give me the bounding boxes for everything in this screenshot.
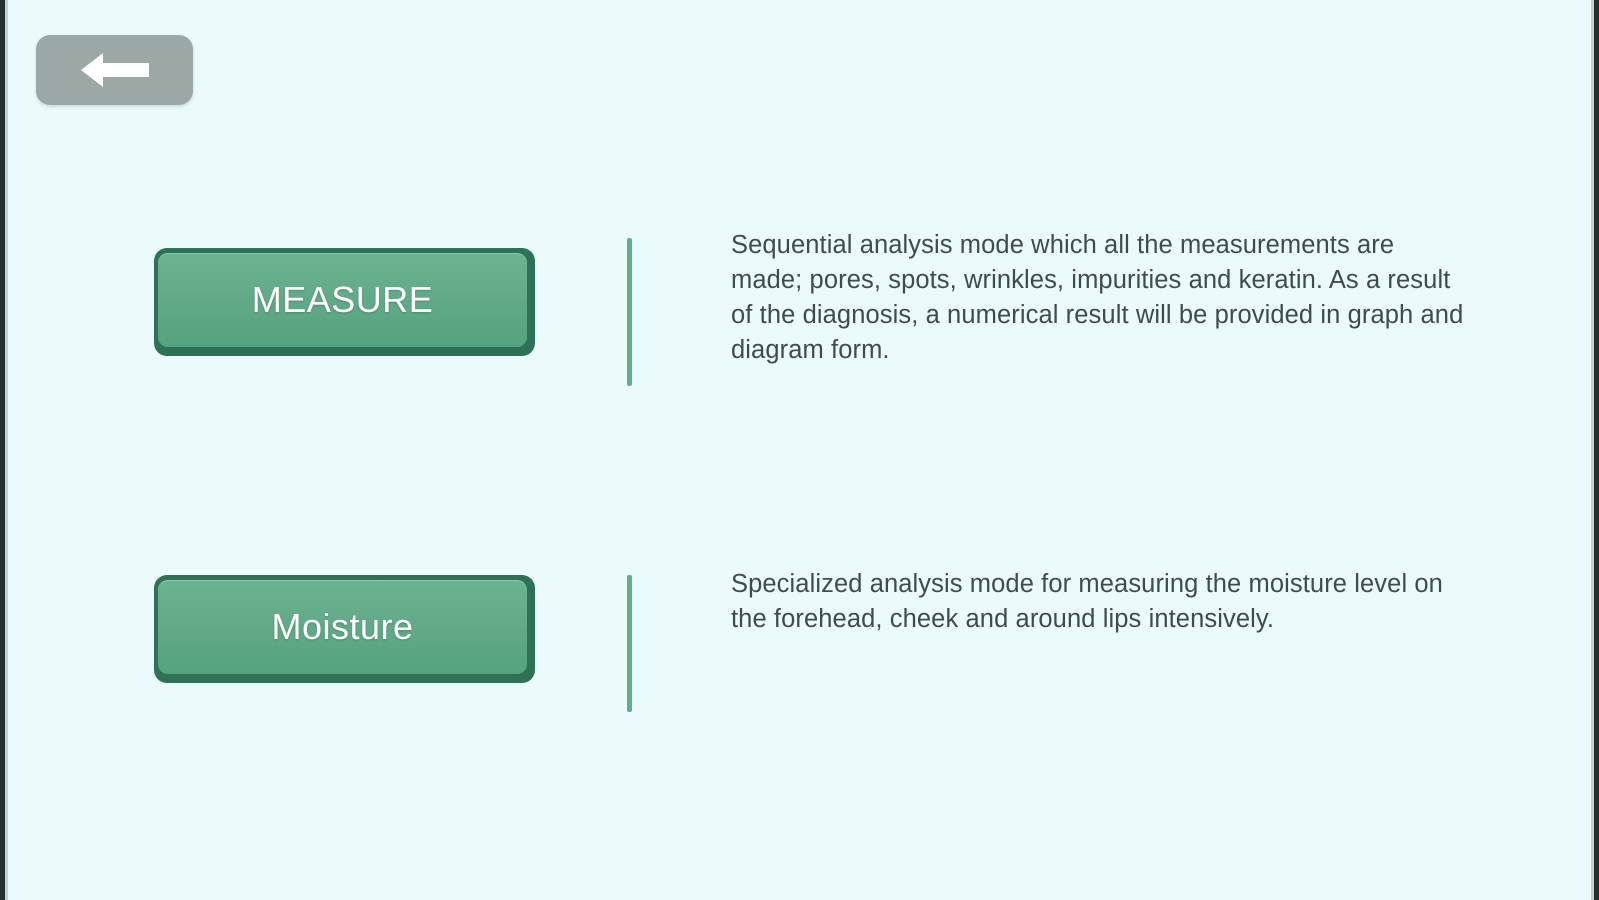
moisture-description: Specialized analysis mode for measuring … [731, 567, 1471, 637]
arrow-left-icon [79, 50, 151, 90]
measure-button-label: MEASURE [252, 282, 434, 318]
button-face: MEASURE [158, 253, 527, 347]
measure-button[interactable]: MEASURE [150, 244, 535, 356]
measure-divider [627, 238, 632, 386]
moisture-button[interactable]: Moisture [150, 571, 535, 683]
frame-edge-left [5, 0, 8, 900]
mode-row-measure: MEASURE Sequential analysis mode which a… [5, 230, 1594, 380]
measure-description: Sequential analysis mode which all the m… [731, 228, 1471, 368]
moisture-divider [627, 575, 632, 712]
app-screen: MEASURE Sequential analysis mode which a… [0, 0, 1599, 900]
frame-edge-right [1591, 0, 1594, 900]
back-button[interactable] [36, 35, 193, 105]
moisture-button-label: Moisture [271, 609, 413, 645]
mode-row-moisture: Moisture Specialized analysis mode for m… [5, 557, 1594, 707]
button-face: Moisture [158, 580, 527, 674]
